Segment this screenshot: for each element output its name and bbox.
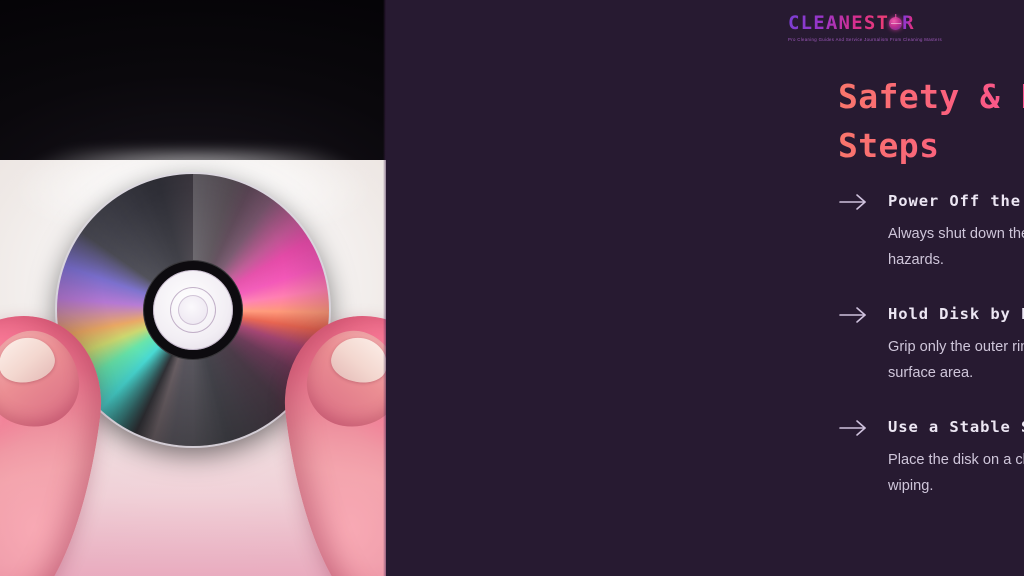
step-header: Power Off the Console xyxy=(838,190,1024,213)
list-item: Use a Stable Surface Place the disk on a… xyxy=(838,416,1024,499)
step-description: Place the disk on a clean, flat surface.… xyxy=(888,447,1024,499)
arrow-right-icon xyxy=(838,416,888,439)
steps-list: Power Off the Console Always shut down t… xyxy=(838,190,1024,499)
brand-logo-wordmark: CLEANEST R xyxy=(788,14,968,33)
step-header: Hold Disk by Edges xyxy=(838,303,1024,326)
brand-tagline: Pro Cleaning Guides And Service Journali… xyxy=(788,37,968,42)
step-title: Hold Disk by Edges xyxy=(888,303,1024,325)
list-item: Power Off the Console Always shut down t… xyxy=(838,190,1024,273)
arrow-right-icon xyxy=(838,303,888,326)
step-description: Always shut down the PS4 before removing… xyxy=(888,221,1024,273)
photo-dark-backdrop xyxy=(0,0,386,168)
disc-center-hole xyxy=(178,295,208,325)
step-header: Use a Stable Surface xyxy=(838,416,1024,439)
list-item: Hold Disk by Edges Grip only the outer r… xyxy=(838,303,1024,386)
slide-root: CLEANEST R Pro Cleaning Guides And Servi… xyxy=(0,0,1024,576)
hero-photo xyxy=(0,0,386,576)
step-description: Grip only the outer rim to avoid adding … xyxy=(888,334,1024,386)
globe-icon xyxy=(889,17,902,30)
step-title: Use a Stable Surface xyxy=(888,416,1024,438)
content-panel: CLEANEST R Pro Cleaning Guides And Servi… xyxy=(386,0,1024,576)
page-title: Safety & Pre-Cleaning Steps xyxy=(838,72,1024,170)
arrow-right-icon xyxy=(838,190,888,213)
brand-logo[interactable]: CLEANEST R Pro Cleaning Guides And Servi… xyxy=(788,14,968,42)
brand-name-part2: R xyxy=(902,14,915,33)
brand-name-part1: CLEANEST xyxy=(788,14,889,33)
step-title: Power Off the Console xyxy=(888,190,1024,212)
